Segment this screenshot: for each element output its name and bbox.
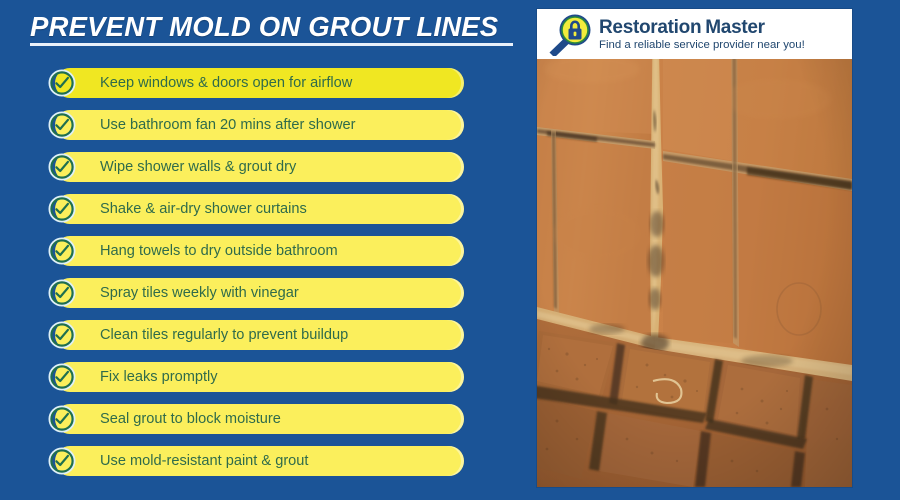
- list-item-label: Wipe shower walls & grout dry: [100, 152, 296, 182]
- list-item[interactable]: Hang towels to dry outside bathroom: [48, 236, 468, 266]
- check-circle-icon: [48, 363, 76, 391]
- logo-text-block: RestorationMaster Find a reliable servic…: [599, 16, 805, 52]
- list-item[interactable]: Wipe shower walls & grout dry: [48, 152, 468, 182]
- list-item-label: Hang towels to dry outside bathroom: [100, 236, 338, 266]
- checklist: Keep windows & doors open for airflow Us…: [48, 68, 468, 488]
- logo-brand-part1: Restoration: [599, 17, 701, 38]
- check-circle-icon: [48, 405, 76, 433]
- list-item-label: Spray tiles weekly with vinegar: [100, 278, 299, 308]
- logo-tagline: Find a reliable service provider near yo…: [599, 38, 805, 52]
- list-item[interactable]: Fix leaks promptly: [48, 362, 468, 392]
- check-circle-icon: [48, 153, 76, 181]
- check-circle-icon: [48, 195, 76, 223]
- list-item[interactable]: Keep windows & doors open for airflow: [48, 68, 468, 98]
- check-circle-icon: [48, 69, 76, 97]
- list-item[interactable]: Spray tiles weekly with vinegar: [48, 278, 468, 308]
- infographic-canvas: PREVENT MOLD ON GROUT LINES Keep windows…: [0, 0, 900, 500]
- list-item-label: Keep windows & doors open for airflow: [100, 68, 352, 98]
- check-circle-icon: [48, 279, 76, 307]
- magnifier-padlock-logo-icon: [545, 12, 597, 56]
- list-item-label: Seal grout to block moisture: [100, 404, 281, 434]
- check-circle-icon: [48, 447, 76, 475]
- list-item[interactable]: Use bathroom fan 20 mins after shower: [48, 110, 468, 140]
- check-circle-icon: [48, 321, 76, 349]
- brand-logo[interactable]: RestorationMaster Find a reliable servic…: [537, 9, 852, 59]
- page-title: PREVENT MOLD ON GROUT LINES: [30, 11, 520, 43]
- title-underline: [30, 43, 513, 46]
- logo-brand-part2: Master: [705, 17, 764, 38]
- list-item[interactable]: Use mold-resistant paint & grout: [48, 446, 468, 476]
- check-circle-icon: [48, 237, 76, 265]
- moldy-shower-corner-grout-photo: [537, 9, 852, 487]
- list-item-label: Shake & air-dry shower curtains: [100, 194, 307, 224]
- list-item-label: Fix leaks promptly: [100, 362, 218, 392]
- photo-panel: [537, 9, 852, 487]
- list-item-label: Use bathroom fan 20 mins after shower: [100, 110, 356, 140]
- check-circle-icon: [48, 111, 76, 139]
- list-item-label: Clean tiles regularly to prevent buildup: [100, 320, 348, 350]
- list-item[interactable]: Shake & air-dry shower curtains: [48, 194, 468, 224]
- list-item-label: Use mold-resistant paint & grout: [100, 446, 308, 476]
- list-item[interactable]: Clean tiles regularly to prevent buildup: [48, 320, 468, 350]
- logo-brand-name: RestorationMaster: [599, 17, 765, 38]
- list-item[interactable]: Seal grout to block moisture: [48, 404, 468, 434]
